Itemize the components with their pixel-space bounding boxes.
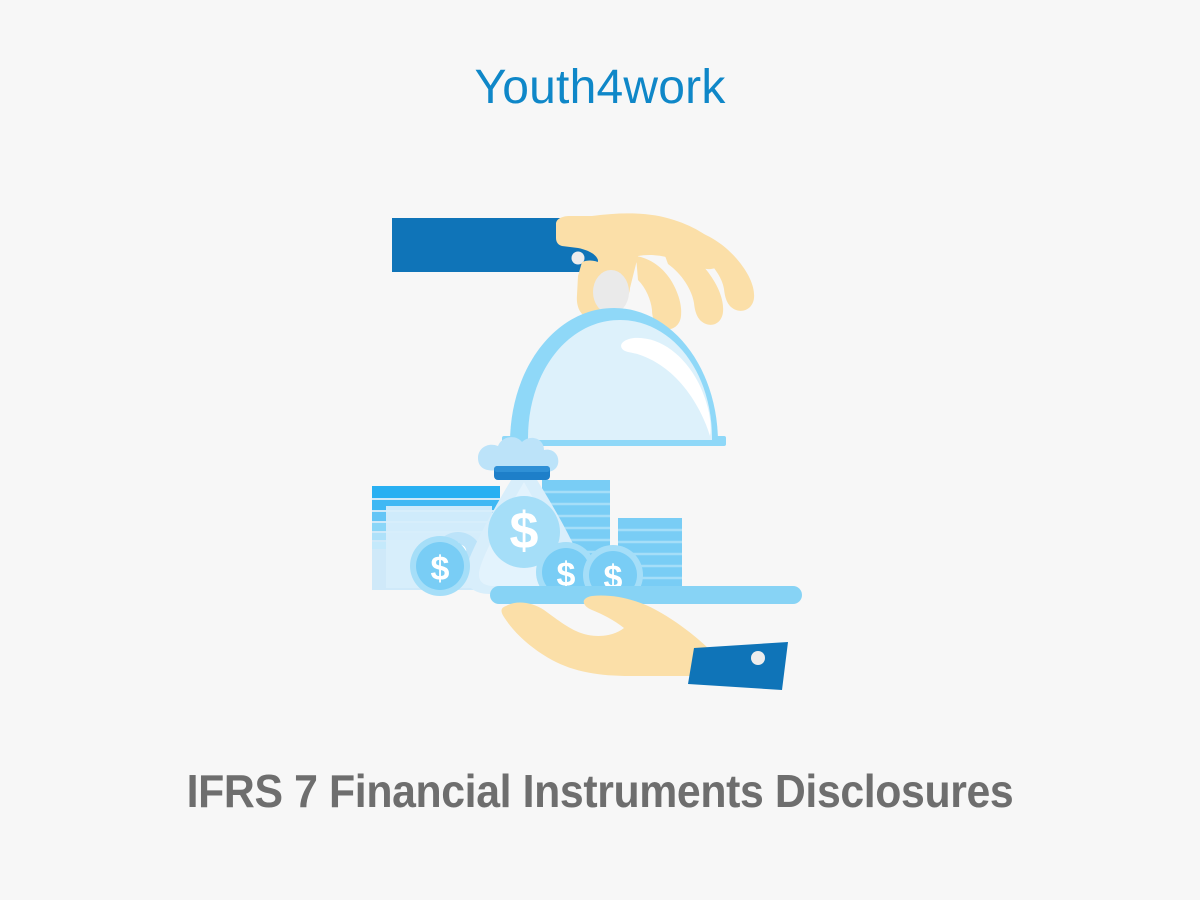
top-hand bbox=[556, 213, 754, 329]
poster-canvas: Youth4work bbox=[0, 0, 1200, 900]
bottom-sleeve bbox=[688, 642, 788, 690]
cloche-dome bbox=[502, 308, 726, 446]
svg-text:$: $ bbox=[510, 502, 539, 560]
cloche-knob bbox=[593, 270, 629, 314]
bottom-hand bbox=[502, 596, 723, 676]
illustration-hand-serving-money: $ bbox=[330, 190, 870, 710]
dollar-coin: $ bbox=[410, 536, 470, 596]
bottom-sleeve-button-icon bbox=[751, 651, 765, 665]
svg-text:$: $ bbox=[431, 550, 450, 588]
brand-logo-text: Youth4work bbox=[0, 62, 1200, 115]
page-title: IFRS 7 Financial Instruments Disclosures bbox=[42, 765, 1158, 818]
serving-tray bbox=[490, 586, 802, 604]
